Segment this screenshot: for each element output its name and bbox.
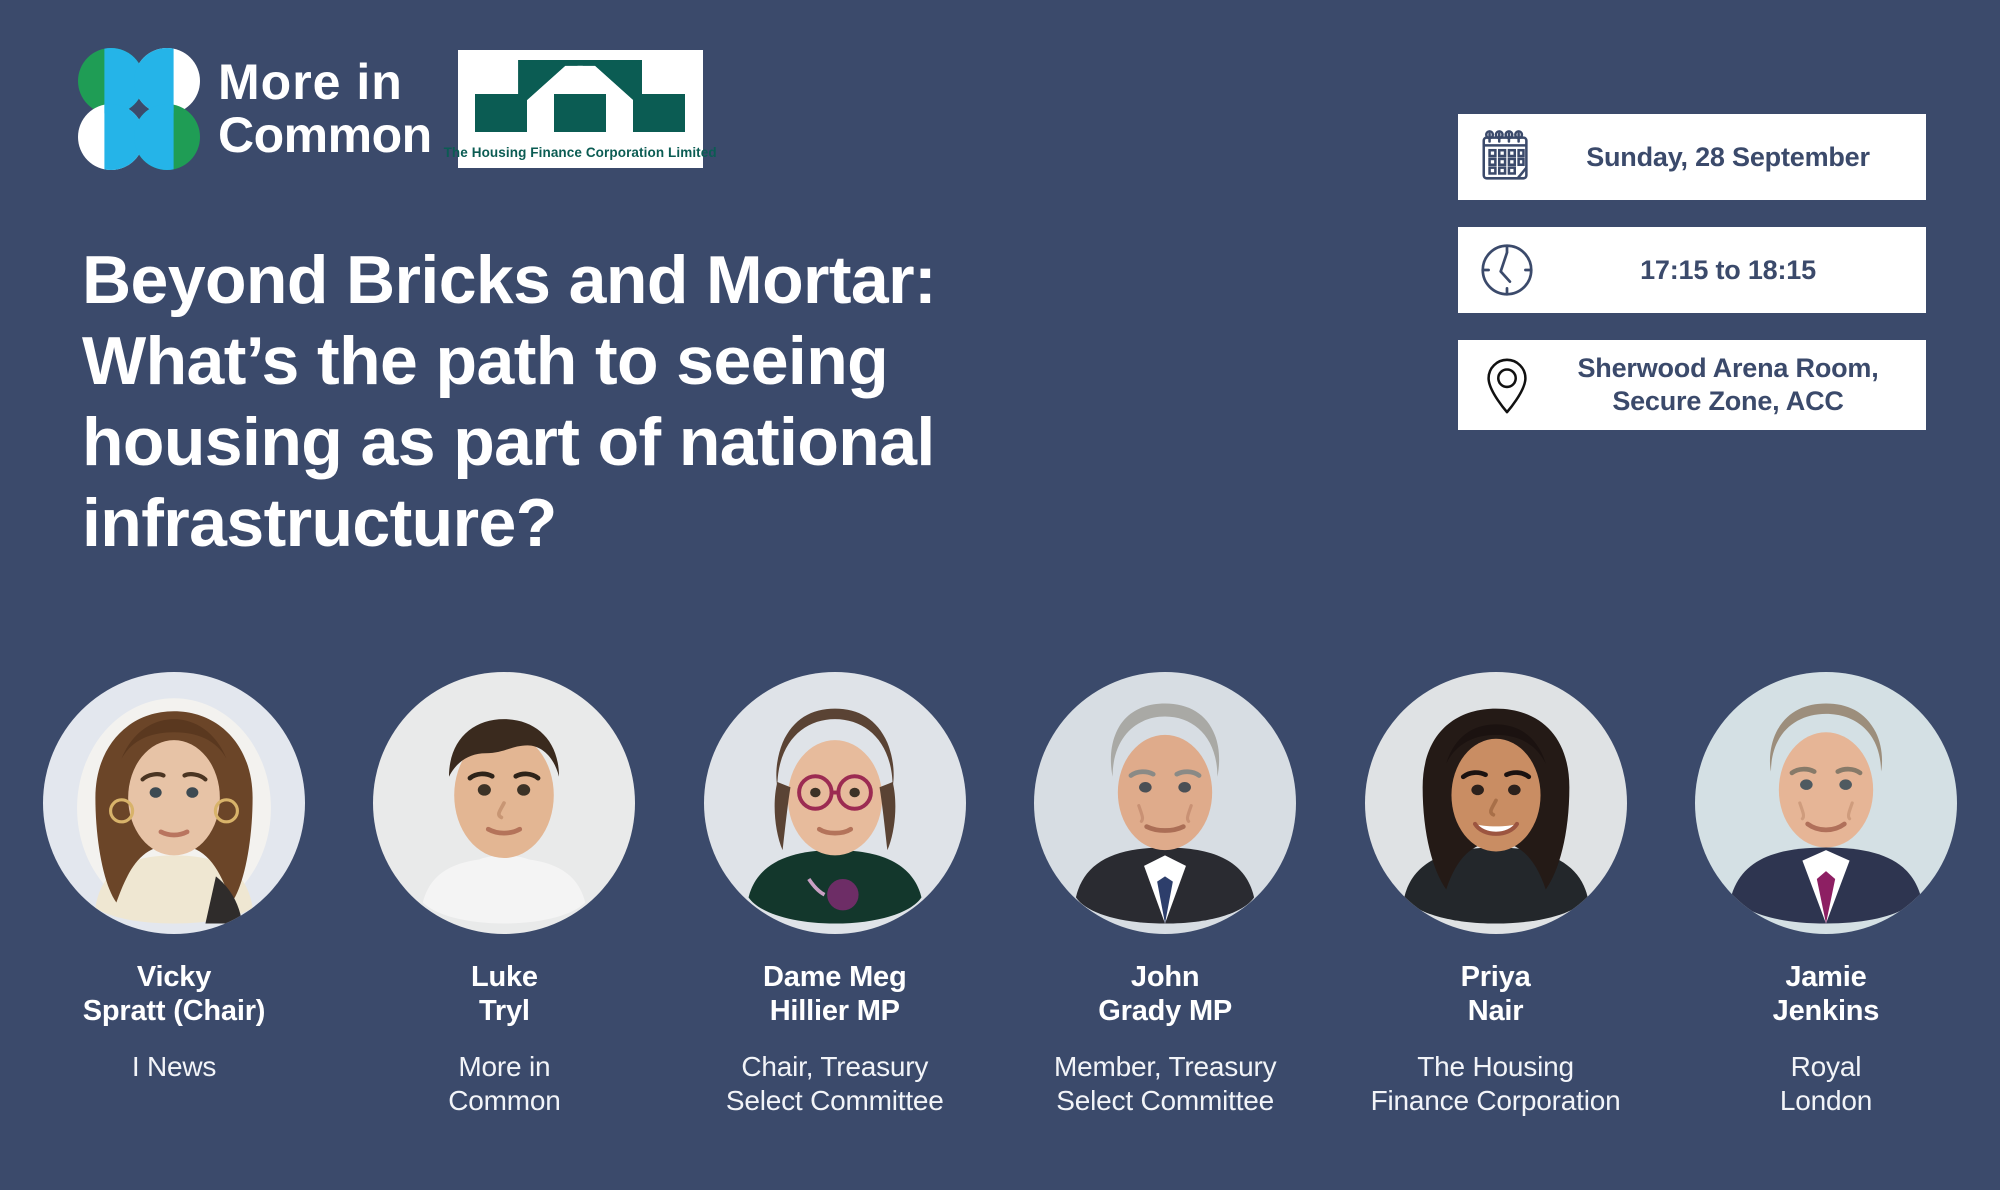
- house-roof-icon: [475, 60, 685, 132]
- speaker-name-line-1: Luke: [471, 961, 538, 993]
- more-in-common-mark-icon: [78, 48, 200, 170]
- event-date-box: Sunday, 28 September: [1458, 114, 1926, 200]
- event-time-box: 17:15 to 18:15: [1458, 227, 1926, 313]
- title-line-2: What’s the path to seeing: [82, 321, 1182, 402]
- speaker-name: John Grady MP: [1098, 960, 1232, 1028]
- speaker-name: Vicky Spratt (Chair): [83, 960, 266, 1028]
- event-time-text: 17:15 to 18:15: [1554, 254, 1908, 287]
- event-location-box: Sherwood Arena Room, Secure Zone, ACC: [1458, 340, 1926, 430]
- speaker-name-line-2: Grady MP: [1098, 995, 1232, 1027]
- speaker-org-line-1: Member, Treasury: [1054, 1051, 1276, 1082]
- housing-finance-corporation-caption: The Housing Finance Corporation Limited: [444, 145, 717, 160]
- speaker-org-line-2: Common: [448, 1085, 560, 1116]
- event-location-text: Sherwood Arena Room, Secure Zone, ACC: [1554, 352, 1908, 418]
- more-in-common-wordmark: More in Common: [218, 56, 432, 162]
- speaker-name-line-2: Nair: [1468, 995, 1524, 1027]
- speaker-org-line-1: Chair, Treasury: [741, 1051, 928, 1082]
- speakers-row: Vicky Spratt (Chair) I News: [0, 672, 2000, 1118]
- speaker-name-line-1: Vicky: [137, 961, 211, 993]
- calendar-icon: [1476, 126, 1538, 188]
- avatar: [43, 672, 305, 934]
- avatar: [704, 672, 966, 934]
- header-logos: More in Common The Housing Finance Corpo…: [78, 48, 703, 170]
- event-location-line-1: Sherwood Arena Room,: [1577, 353, 1878, 383]
- event-poster: More in Common The Housing Finance Corpo…: [0, 0, 2000, 1190]
- location-pin-icon: [1476, 354, 1538, 416]
- avatar: [1365, 672, 1627, 934]
- speaker-card: John Grady MP Member, Treasury Select Co…: [1005, 672, 1325, 1118]
- speaker-name-line-2: Hillier MP: [770, 995, 900, 1027]
- speaker-card: Priya Nair The Housing Finance Corporati…: [1336, 672, 1656, 1118]
- speaker-organisation: More in Common: [448, 1050, 560, 1117]
- speaker-org-line-2: Select Committee: [726, 1085, 944, 1116]
- more-in-common-wordmark-line1: More in: [218, 56, 432, 109]
- speaker-org-line-1: I News: [132, 1051, 216, 1082]
- clock-icon: [1476, 239, 1538, 301]
- speaker-org-line-1: Royal: [1791, 1051, 1862, 1082]
- speaker-card: Vicky Spratt (Chair) I News: [14, 672, 334, 1118]
- speaker-org-line-2: Finance Corporation: [1371, 1085, 1621, 1116]
- speaker-organisation: Chair, Treasury Select Committee: [726, 1050, 944, 1117]
- avatar: [373, 672, 635, 934]
- speaker-name-line-1: Priya: [1461, 961, 1531, 993]
- speaker-name: Jamie Jenkins: [1773, 960, 1880, 1028]
- avatar: [1695, 672, 1957, 934]
- speaker-organisation: Royal London: [1780, 1050, 1872, 1117]
- title-line-1: Beyond Bricks and Mortar:: [82, 240, 1182, 321]
- speaker-org-line-2: Select Committee: [1056, 1085, 1274, 1116]
- housing-finance-corporation-logo: The Housing Finance Corporation Limited: [458, 50, 703, 168]
- speaker-name-line-1: John: [1131, 961, 1199, 993]
- speaker-org-line-1: More in: [458, 1051, 550, 1082]
- speaker-name: Dame Meg Hillier MP: [763, 960, 906, 1028]
- speaker-card: Jamie Jenkins Royal London: [1666, 672, 1986, 1118]
- speaker-org-line-1: The Housing: [1417, 1051, 1574, 1082]
- speaker-org-line-2: London: [1780, 1085, 1872, 1116]
- speaker-card: Dame Meg Hillier MP Chair, Treasury Sele…: [675, 672, 995, 1118]
- event-location-line-2: Secure Zone, ACC: [1612, 386, 1843, 416]
- page-title: Beyond Bricks and Mortar: What’s the pat…: [82, 240, 1182, 564]
- event-info-stack: Sunday, 28 September 17:15 to 18:15 Sh: [1458, 114, 1926, 430]
- title-line-4: infrastructure?: [82, 483, 1182, 564]
- speaker-organisation: The Housing Finance Corporation: [1371, 1050, 1621, 1117]
- speaker-name-line-1: Jamie: [1785, 961, 1866, 993]
- more-in-common-logo: More in Common: [78, 48, 432, 170]
- event-date-text: Sunday, 28 September: [1554, 141, 1908, 174]
- speaker-name-line-2: Spratt (Chair): [83, 995, 266, 1027]
- more-in-common-wordmark-line2: Common: [218, 109, 432, 162]
- speaker-organisation: Member, Treasury Select Committee: [1054, 1050, 1276, 1117]
- title-line-3: housing as part of national: [82, 402, 1182, 483]
- speaker-name: Luke Tryl: [471, 960, 538, 1028]
- speaker-name: Priya Nair: [1461, 960, 1531, 1028]
- avatar: [1034, 672, 1296, 934]
- speaker-card: Luke Tryl More in Common: [344, 672, 664, 1118]
- speaker-name-line-2: Jenkins: [1773, 995, 1880, 1027]
- speaker-name-line-2: Tryl: [479, 995, 530, 1027]
- speaker-name-line-1: Dame Meg: [763, 961, 906, 993]
- speaker-organisation: I News: [132, 1050, 216, 1084]
